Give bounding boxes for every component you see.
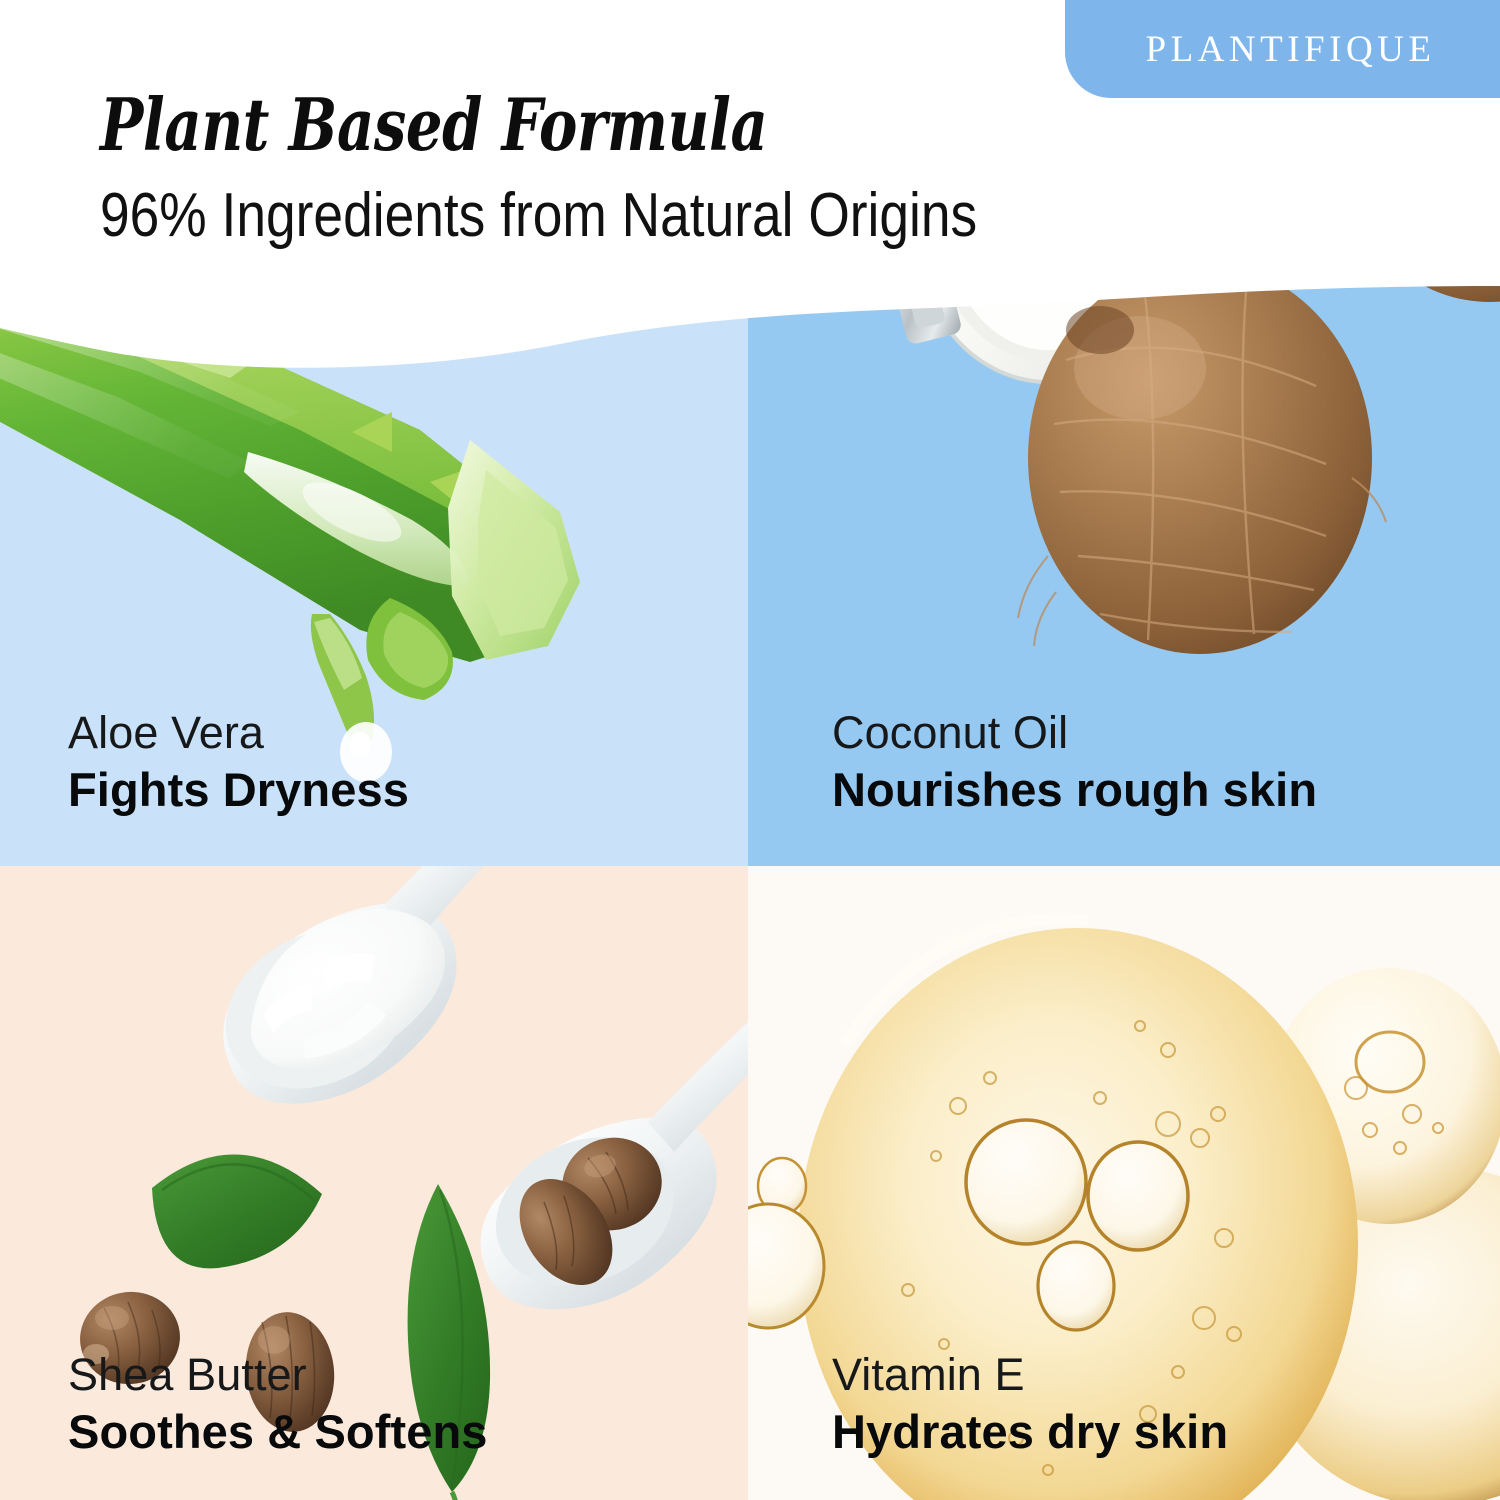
page-title: Plant Based Formula [100,88,916,161]
infographic-canvas: PLANTIFIQUE Plant Based Formula 96% Ingr… [0,0,1500,1500]
ingredient-name-shea-butter: Shea Butter [68,1348,488,1401]
ceramic-spoon-butter [170,866,650,1137]
caption-vitamin-e: Vitamin E Hydrates dry skin [832,1348,1228,1460]
caption-coconut-oil: Coconut Oil Nourishes rough skin [832,706,1317,818]
ingredient-benefit-vitamin-e: Hydrates dry skin [832,1404,1228,1460]
ingredient-benefit-coconut-oil: Nourishes rough skin [832,762,1317,818]
ingredient-benefit-aloe-vera: Fights Dryness [68,762,409,818]
caption-aloe-vera: Aloe Vera Fights Dryness [68,706,409,818]
ingredient-name-vitamin-e: Vitamin E [832,1348,1228,1401]
green-leaf-upper [152,1154,322,1268]
page-subtitle: 96% Ingredients from Natural Origins [100,183,977,248]
ingredient-benefit-shea-butter: Soothes & Softens [68,1404,488,1460]
brand-name: PLANTIFIQUE [1130,28,1436,71]
caption-shea-butter: Shea Butter Soothes & Softens [68,1348,488,1460]
ingredient-name-aloe-vera: Aloe Vera [68,706,409,759]
header-text-block: Plant Based Formula 96% Ingredients from… [100,88,1120,249]
ingredient-name-coconut-oil: Coconut Oil [832,706,1317,759]
brand-tab: PLANTIFIQUE [1065,0,1500,98]
